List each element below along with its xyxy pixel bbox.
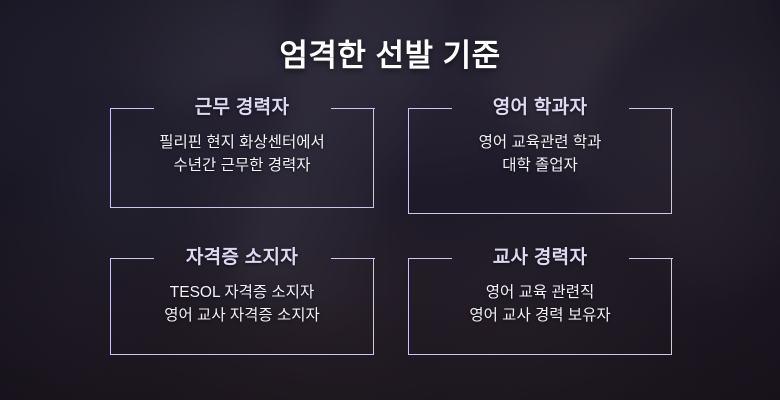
page-title: 엄격한 선발 기준 — [0, 30, 780, 75]
card-title: 자격증 소지자 — [110, 242, 374, 269]
card-body: TESOL 자격증 소지자 영어 교사 자격증 소지자 — [110, 281, 374, 327]
criteria-card-certificate-holder: 자격증 소지자 TESOL 자격증 소지자 영어 교사 자격증 소지자 — [110, 259, 374, 355]
card-body-line: 영어 교육 관련직 — [408, 281, 672, 304]
card-body-line: 수년간 근무한 경력자 — [110, 154, 374, 177]
criteria-card-work-experience: 근무 경력자 필리핀 현지 화상센터에서 수년간 근무한 경력자 — [110, 109, 374, 208]
promo-banner: 엄격한 선발 기준 근무 경력자 필리핀 현지 화상센터에서 수년간 근무한 경… — [0, 0, 780, 400]
card-body: 영어 교육관련 학과 대학 졸업자 — [408, 131, 672, 177]
card-body: 영어 교육 관련직 영어 교사 경력 보유자 — [408, 281, 672, 327]
card-title: 교사 경력자 — [408, 242, 672, 269]
card-title: 영어 학과자 — [408, 92, 672, 119]
card-body: 필리핀 현지 화상센터에서 수년간 근무한 경력자 — [110, 131, 374, 177]
card-body-line: 필리핀 현지 화상센터에서 — [110, 131, 374, 154]
card-body-line: 영어 교육관련 학과 — [408, 131, 672, 154]
card-body-line: 대학 졸업자 — [408, 154, 672, 177]
card-title: 근무 경력자 — [110, 92, 374, 119]
criteria-card-teaching-experience: 교사 경력자 영어 교육 관련직 영어 교사 경력 보유자 — [408, 259, 672, 355]
card-body-line: 영어 교사 경력 보유자 — [408, 304, 672, 327]
criteria-card-english-major: 영어 학과자 영어 교육관련 학과 대학 졸업자 — [408, 109, 672, 214]
card-body-line: TESOL 자격증 소지자 — [110, 281, 374, 304]
card-body-line: 영어 교사 자격증 소지자 — [110, 304, 374, 327]
banner-content: 엄격한 선발 기준 근무 경력자 필리핀 현지 화상센터에서 수년간 근무한 경… — [0, 0, 780, 400]
